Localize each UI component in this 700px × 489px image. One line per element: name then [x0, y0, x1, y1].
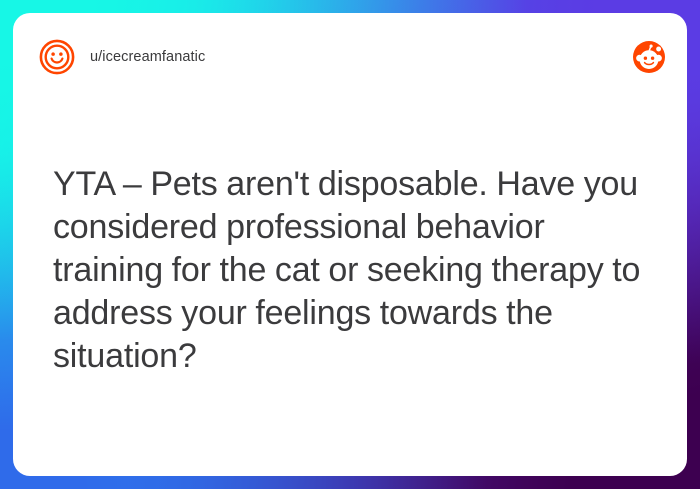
post-text: YTA – Pets aren't disposable. Have you c…: [53, 163, 651, 378]
username-label: u/icecreamfanatic: [90, 49, 205, 65]
avatar[interactable]: [39, 39, 75, 75]
card-header: u/icecreamfanatic: [13, 13, 687, 101]
reddit-comment-card: u/icecreamfanatic YTA – Pets ar: [13, 13, 687, 476]
reddit-snoo-icon[interactable]: [633, 41, 665, 73]
gradient-background: u/icecreamfanatic YTA – Pets ar: [0, 0, 700, 489]
card-body: YTA – Pets aren't disposable. Have you c…: [53, 163, 651, 378]
